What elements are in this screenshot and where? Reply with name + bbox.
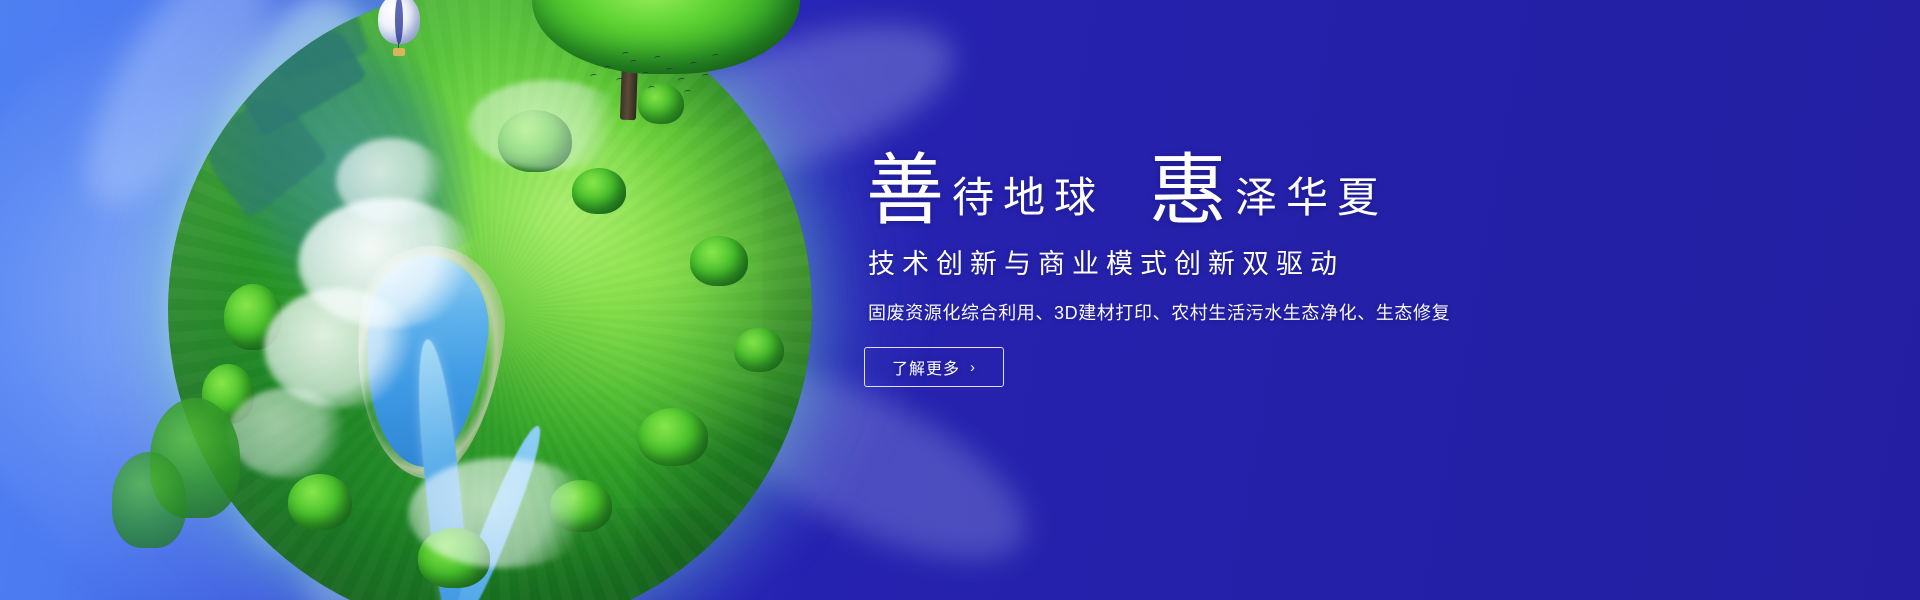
bird-icon	[642, 72, 650, 78]
mountain-ridge	[195, 87, 329, 219]
tree	[550, 480, 612, 532]
bird-icon	[690, 62, 698, 68]
lake	[350, 249, 498, 474]
bird-icon	[616, 78, 624, 84]
cloud-puff	[264, 288, 414, 408]
bird-icon	[678, 78, 686, 84]
cloud-puff	[228, 388, 348, 478]
bird-icon	[622, 52, 630, 58]
cloud-streak	[134, 0, 406, 418]
tree	[572, 168, 626, 214]
bird-icon	[666, 68, 674, 74]
headline-char-1: 善	[866, 152, 946, 230]
hero-banner: 善 待地球 惠 泽华夏 技术创新与商业模式创新双驱动 固废资源化综合利用、3D建…	[0, 0, 1920, 600]
tree	[224, 284, 282, 350]
foreground-tree	[112, 452, 186, 548]
headline: 善 待地球 惠 泽华夏	[866, 128, 1562, 224]
bird-icon	[702, 74, 710, 80]
tree	[734, 328, 784, 372]
hot-air-balloon-envelope	[378, 0, 420, 44]
bird-icon	[712, 54, 720, 60]
tree	[418, 528, 490, 588]
chevron-right-icon: ›	[970, 359, 976, 376]
lake-shore	[339, 237, 516, 487]
cloud-puff	[298, 198, 478, 328]
cloud-streak	[218, 162, 402, 557]
learn-more-button[interactable]: 了解更多 ›	[864, 347, 1004, 387]
bird-icon	[630, 60, 638, 66]
mountain-ridge	[229, 17, 368, 138]
tree	[690, 236, 748, 286]
cloud-streak	[54, 0, 306, 231]
bird-icon	[684, 90, 692, 96]
bird-icon	[654, 56, 662, 62]
mountain-ridge	[265, 0, 369, 80]
cloud-puff	[408, 458, 598, 568]
headline-char-2: 惠	[1149, 152, 1229, 230]
cloud-streak	[246, 316, 474, 600]
hero-copy: 善 待地球 惠 泽华夏 技术创新与商业模式创新双驱动 固废资源化综合利用、3D建…	[862, 128, 1562, 387]
river-branch	[444, 421, 551, 600]
hot-air-balloon-stripe	[395, 0, 403, 44]
description: 固废资源化综合利用、3D建材打印、农村生活污水生态净化、生态修复	[868, 299, 1562, 325]
tree	[498, 110, 572, 172]
learn-more-label: 了解更多	[892, 355, 960, 379]
bird-icon	[604, 66, 612, 72]
bird-flock	[586, 48, 726, 98]
cloud-puff	[336, 138, 446, 224]
green-planet	[140, 0, 840, 600]
tree	[638, 408, 708, 466]
hot-air-balloon-basket	[393, 48, 405, 56]
tree	[288, 474, 352, 530]
river	[411, 335, 476, 600]
bird-icon	[648, 86, 656, 92]
mountain-range	[168, 0, 508, 326]
headline-rest-1: 待地球	[952, 178, 1105, 220]
subheadline: 技术创新与商业模式创新双驱动	[868, 242, 1562, 281]
headline-rest-2: 泽华夏	[1235, 178, 1388, 220]
bird-icon	[590, 74, 598, 80]
hot-air-balloon-line	[398, 42, 399, 50]
